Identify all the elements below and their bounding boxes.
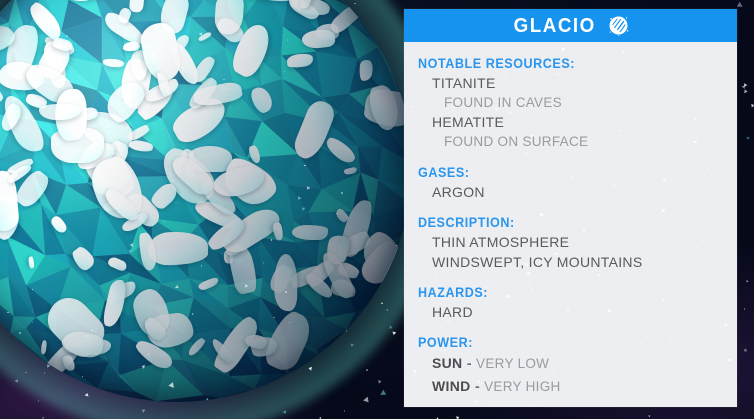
info-section: GASES:ARGON bbox=[418, 165, 737, 202]
star bbox=[283, 411, 288, 416]
section-label: POWER: bbox=[418, 335, 715, 350]
section-label: GASES: bbox=[418, 165, 715, 180]
panel-speck bbox=[535, 406, 537, 408]
section-item: WINDSWEPT, ICY MOUNTAINS bbox=[418, 252, 737, 272]
star-dot bbox=[346, 330, 348, 332]
star bbox=[174, 285, 178, 288]
star-dot bbox=[396, 245, 398, 247]
section-item: HARD bbox=[418, 302, 737, 322]
star-dot bbox=[744, 308, 746, 310]
star bbox=[745, 279, 748, 282]
star bbox=[378, 379, 382, 383]
panel-speck bbox=[475, 401, 477, 403]
planet-info-screen: GLACIO NOTABLE RESOURCES:TITANITEFOUND I… bbox=[0, 0, 754, 419]
snow-patch bbox=[274, 253, 298, 311]
planet-illustration bbox=[0, 0, 412, 402]
star bbox=[744, 89, 748, 93]
power-row: WIND - VERY HIGH bbox=[418, 375, 737, 398]
star bbox=[386, 309, 388, 311]
section-label: NOTABLE RESOURCES: bbox=[418, 56, 715, 71]
section-subitem: FOUND IN CAVES bbox=[418, 93, 737, 112]
info-section: HAZARDS:HARD bbox=[418, 285, 737, 322]
star-dot bbox=[273, 317, 275, 319]
star-dot bbox=[344, 410, 346, 412]
panel-speck bbox=[616, 399, 618, 401]
section-subitem: FOUND ON SURFACE bbox=[418, 132, 737, 151]
star-dot bbox=[19, 332, 21, 334]
power-row: SUN - VERY LOW bbox=[418, 352, 737, 375]
star bbox=[746, 136, 750, 140]
section-item: THIN ATMOSPHERE bbox=[418, 232, 737, 252]
star-dot bbox=[66, 35, 68, 37]
star bbox=[456, 415, 460, 419]
power-key: WIND bbox=[432, 378, 471, 394]
power-key: SUN bbox=[432, 355, 462, 371]
star-dot bbox=[285, 291, 287, 293]
power-separator: - bbox=[467, 355, 472, 371]
star-dot bbox=[341, 192, 343, 194]
panel-speck bbox=[608, 404, 609, 405]
section-item: ARGON bbox=[418, 182, 737, 202]
star-dot bbox=[355, 253, 357, 255]
section-item: TITANITE bbox=[418, 73, 737, 93]
ice-planet-icon bbox=[607, 14, 630, 37]
section-label: DESCRIPTION: bbox=[418, 215, 715, 230]
snow-patch bbox=[292, 225, 328, 240]
star-dot bbox=[32, 322, 34, 324]
star bbox=[647, 415, 649, 417]
info-section: NOTABLE RESOURCES:TITANITEFOUND IN CAVES… bbox=[418, 56, 737, 152]
panel-body: NOTABLE RESOURCES:TITANITEFOUND IN CAVES… bbox=[404, 42, 737, 398]
star bbox=[198, 32, 203, 36]
section-label: HAZARDS: bbox=[418, 285, 715, 300]
star bbox=[141, 364, 145, 369]
star-dot bbox=[25, 372, 27, 374]
planet-sphere bbox=[0, 0, 412, 402]
star bbox=[743, 348, 748, 353]
panel-header: GLACIO bbox=[404, 9, 737, 42]
star-dot bbox=[366, 369, 368, 371]
planet-info-panel: GLACIO NOTABLE RESOURCES:TITANITEFOUND I… bbox=[404, 9, 737, 407]
section-item: HEMATITE bbox=[418, 112, 737, 132]
power-separator: - bbox=[475, 378, 480, 394]
page-title: GLACIO bbox=[513, 16, 595, 36]
star-dot bbox=[87, 335, 89, 337]
star bbox=[192, 313, 194, 315]
snow-patch bbox=[148, 232, 208, 266]
power-value: VERY HIGH bbox=[484, 379, 560, 394]
power-value: VERY LOW bbox=[476, 356, 549, 371]
star-dot bbox=[129, 250, 131, 252]
info-section: POWER:SUN - VERY LOWWIND - VERY HIGH bbox=[418, 335, 737, 398]
info-section: DESCRIPTION:THIN ATMOSPHEREWINDSWEPT, IC… bbox=[418, 215, 737, 272]
star-dot bbox=[38, 400, 40, 402]
